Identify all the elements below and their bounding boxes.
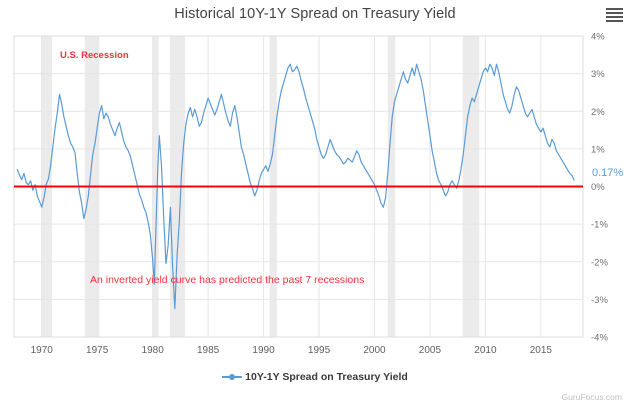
x-axis-tick-label: 1990 (252, 345, 275, 356)
x-axis-tick-label: 1980 (142, 345, 165, 356)
last-value-label: 0.17% (592, 167, 623, 179)
x-axis-labels: 1970197519801985199019952000200520102015 (31, 345, 553, 356)
watermark: GuruFocus.com (562, 392, 622, 402)
legend-dot (229, 374, 235, 380)
y-axis-tick-label: -2% (591, 257, 608, 268)
y-axis-tick-label: 0% (591, 182, 605, 193)
recession-annotation: U.S. Recession (60, 50, 129, 61)
y-axis-tick-label: 4% (591, 32, 605, 43)
legend-marker-icon (222, 372, 242, 382)
x-axis-tick-label: 1970 (31, 345, 54, 356)
x-axis-tick-label: 2015 (530, 345, 553, 356)
x-axis-tick-label: 2000 (363, 345, 386, 356)
y-axis-tick-label: -4% (591, 333, 608, 344)
inverted-curve-annotation: An inverted yield curve has predicted th… (90, 274, 364, 286)
y-axis-tick-label: -3% (591, 295, 608, 306)
chart-legend: 10Y-1Y Spread on Treasury Yield (0, 371, 630, 383)
y-axis-tick-label: 1% (591, 144, 605, 155)
y-axis-tick-label: 2% (591, 107, 605, 118)
chart-plot-area: 4%3%2%1%0%-1%-2%-3%-4% 19701975198019851… (0, 0, 630, 406)
y-axis-tick-label: -1% (591, 220, 608, 231)
x-axis-tick-label: 2010 (474, 345, 497, 356)
y-axis-tick-label: 3% (591, 69, 605, 80)
x-axis-tick-label: 2005 (419, 345, 442, 356)
x-axis-tick-label: 1985 (197, 345, 220, 356)
x-axis-tick-label: 1975 (86, 345, 109, 356)
legend-item-label[interactable]: 10Y-1Y Spread on Treasury Yield (245, 371, 408, 383)
chart-container: Historical 10Y-1Y Spread on Treasury Yie… (0, 0, 630, 406)
x-axis-tick-label: 1995 (308, 345, 331, 356)
y-axis-labels: 4%3%2%1%0%-1%-2%-3%-4% (591, 32, 608, 344)
